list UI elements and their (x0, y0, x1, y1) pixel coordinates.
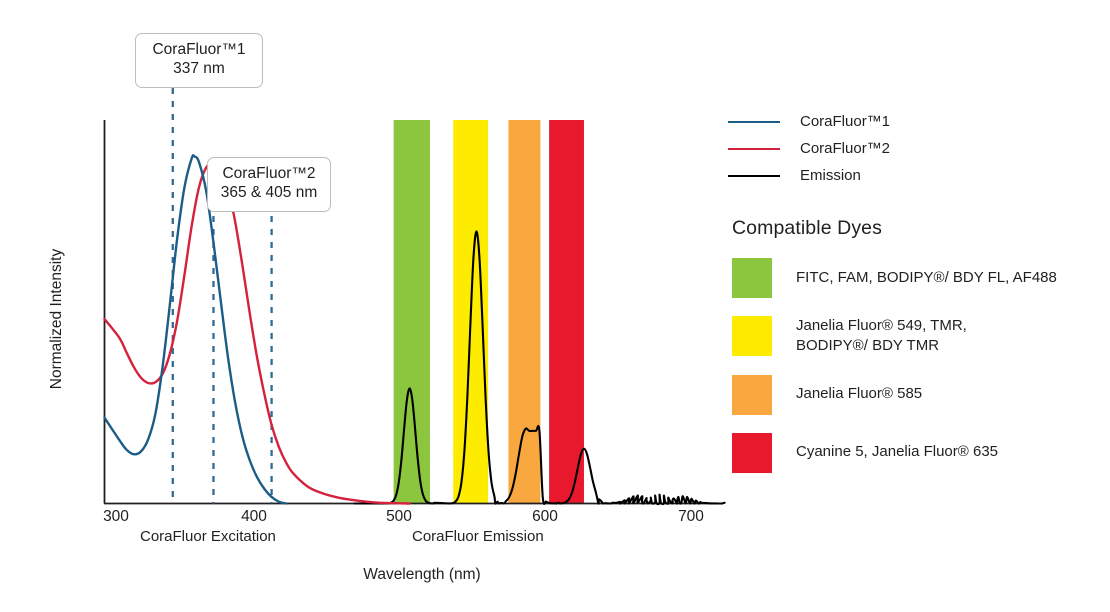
x-axis-title: Wavelength (nm) (282, 566, 562, 584)
compatible-dyes-heading: Compatible Dyes (732, 217, 1110, 240)
dye-swatch-green (732, 258, 772, 298)
dye-label-green-line1: FITC, FAM, BODIPY®/ BDY FL, AF488 (796, 268, 1057, 288)
legend-item-emission: Emission (728, 162, 1110, 189)
plot-area: CoraFluor™1 337 nm CoraFluor™2 365 & 405… (0, 0, 730, 612)
dye-label-orange: Janelia Fluor® 585 (796, 384, 922, 404)
dye-label-yellow-line2: BODIPY®/ BDY TMR (796, 336, 967, 356)
dye-band-2 (508, 120, 540, 504)
dye-label-green: FITC, FAM, BODIPY®/ BDY FL, AF488 (796, 268, 1057, 288)
x-tick-700: 700 (661, 508, 721, 526)
legend-label-emission: Emission (800, 167, 861, 184)
dye-label-red: Cyanine 5, Janelia Fluor® 635 (796, 442, 998, 462)
dye-row-yellow: Janelia Fluor® 549, TMR, BODIPY®/ BDY TM… (728, 316, 1110, 357)
dye-row-red: Cyanine 5, Janelia Fluor® 635 (728, 433, 1110, 473)
dye-row-orange: Janelia Fluor® 585 (728, 375, 1110, 415)
x-tick-500: 500 (369, 508, 429, 526)
y-axis-title: Normalized Intensity (48, 229, 66, 409)
x-tick-400: 400 (224, 508, 284, 526)
legend-line-swatch-corafluor1 (728, 121, 780, 123)
dye-label-red-line1: Cyanine 5, Janelia Fluor® 635 (796, 442, 998, 462)
legend-item-corafluor1: CoraFluor™1 (728, 108, 1110, 135)
excitation-marker-lines (173, 88, 272, 504)
callout-corafluor1-line2: 337 nm (148, 60, 250, 79)
callout-corafluor2-line2: 365 & 405 nm (220, 184, 318, 203)
legend-line-swatch-emission (728, 175, 780, 177)
callout-corafluor1-line1: CoraFluor™1 (152, 41, 245, 58)
dye-swatch-red (732, 433, 772, 473)
dye-swatch-orange (732, 375, 772, 415)
callout-corafluor1: CoraFluor™1 337 nm (135, 33, 263, 88)
dye-label-orange-line1: Janelia Fluor® 585 (796, 384, 922, 404)
callout-corafluor2-line1: CoraFluor™2 (222, 165, 315, 182)
dye-label-yellow-line1: Janelia Fluor® 549, TMR, (796, 316, 967, 336)
legend-panel: CoraFluor™1 CoraFluor™2 Emission Compati… (728, 108, 1110, 473)
callout-corafluor2: CoraFluor™2 365 & 405 nm (207, 157, 331, 212)
corafluor2-excitation-curve (105, 163, 410, 504)
dye-band-0 (394, 120, 430, 504)
spectra-figure: CoraFluor™1 337 nm CoraFluor™2 365 & 405… (0, 0, 1110, 612)
legend-label-corafluor2: CoraFluor™2 (800, 140, 890, 157)
legend-label-corafluor1: CoraFluor™1 (800, 113, 890, 130)
dye-swatch-yellow (732, 316, 772, 356)
dye-band-3 (549, 120, 584, 504)
dye-row-green: FITC, FAM, BODIPY®/ BDY FL, AF488 (728, 258, 1110, 298)
legend-item-corafluor2: CoraFluor™2 (728, 135, 1110, 162)
x-sublabel-excitation: CoraFluor Excitation (140, 528, 276, 545)
legend-line-swatch-corafluor2 (728, 148, 780, 150)
dye-label-yellow: Janelia Fluor® 549, TMR, BODIPY®/ BDY TM… (796, 316, 967, 357)
x-tick-300: 300 (86, 508, 146, 526)
x-sublabel-emission: CoraFluor Emission (412, 528, 544, 545)
x-tick-600: 600 (515, 508, 575, 526)
